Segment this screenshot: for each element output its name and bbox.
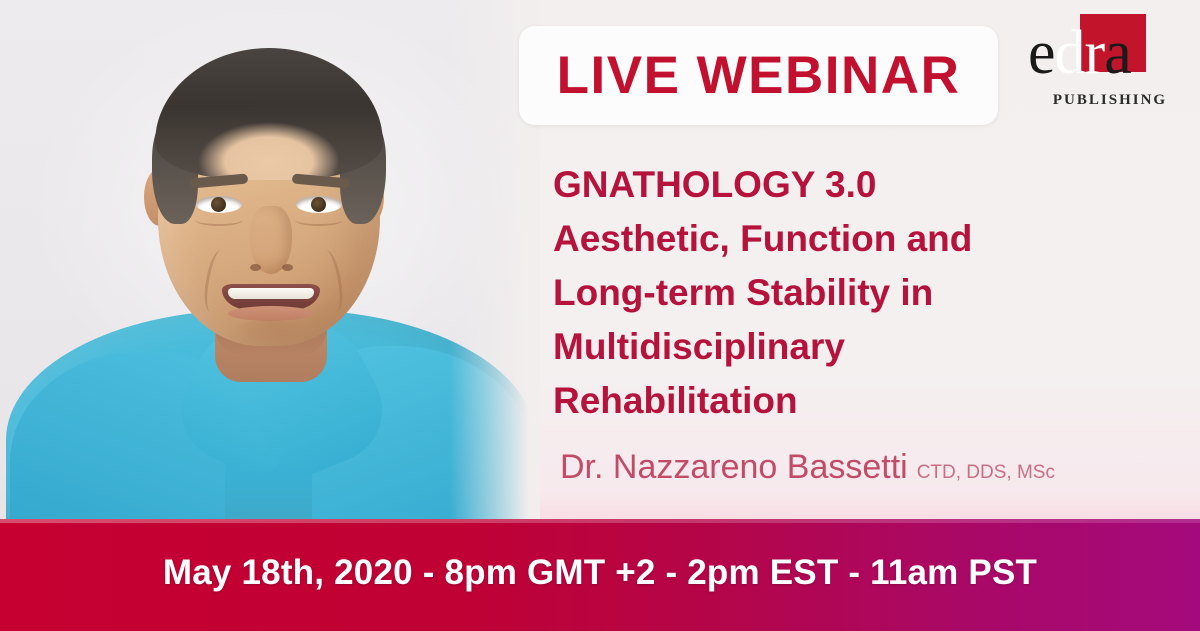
title-line: Aesthetic, Function and	[553, 212, 1173, 266]
nostril-right	[282, 264, 293, 271]
title-line: Long-term Stability in	[553, 266, 1173, 320]
logo-word-part-3: a	[1104, 19, 1131, 87]
logo-word-part-1: e	[1028, 19, 1055, 87]
presenter-portrait	[0, 0, 540, 519]
logo-word-part-2: dr	[1055, 19, 1105, 87]
iris-left	[211, 197, 226, 212]
eye-left	[196, 196, 242, 213]
teeth	[228, 288, 314, 299]
eye-crease-right	[295, 214, 343, 226]
logo-tagline: PUBLISHING	[1042, 92, 1178, 109]
lower-lip	[228, 306, 314, 321]
presenter-credentials: CTD, DDS, MSc	[917, 462, 1055, 484]
title-line: Rehabilitation	[553, 374, 1173, 428]
nostril-left	[250, 264, 261, 271]
content-area: LIVE WEBINAR edra PUBLISHING GNATHOLOGY …	[0, 0, 1200, 519]
eye-right	[296, 196, 342, 213]
webinar-poster: LIVE WEBINAR edra PUBLISHING GNATHOLOGY …	[0, 0, 1200, 631]
edra-publishing-logo: edra PUBLISHING	[1028, 8, 1178, 126]
chin	[232, 320, 310, 346]
title-line: Multidisciplinary	[553, 320, 1173, 374]
date-time-text: May 18th, 2020 - 8pm GMT +2 - 2pm EST - …	[163, 553, 1037, 593]
live-webinar-badge: LIVE WEBINAR	[519, 26, 998, 125]
date-time-banner: May 18th, 2020 - 8pm GMT +2 - 2pm EST - …	[0, 519, 1200, 631]
logo-wordmark: edra	[1028, 22, 1178, 84]
live-webinar-label: LIVE WEBINAR	[557, 45, 961, 106]
logo-mark: edra	[1028, 8, 1178, 94]
eye-crease-left	[195, 214, 243, 226]
title-line: GNATHOLOGY 3.0	[553, 158, 1173, 212]
presenter-byline: Dr. Nazzareno Bassetti CTD, DDS, MSc	[560, 448, 1180, 487]
presenter-name: Dr. Nazzareno Bassetti	[560, 448, 908, 487]
iris-right	[311, 197, 326, 212]
webinar-title: GNATHOLOGY 3.0 Aesthetic, Function and L…	[553, 158, 1173, 428]
